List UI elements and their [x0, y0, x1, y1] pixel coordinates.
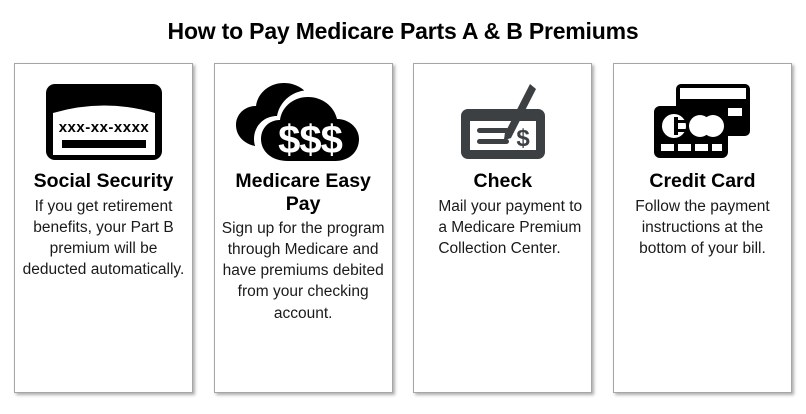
check-dollar-text: $ [516, 125, 530, 152]
card-heading-check: Check [420, 170, 585, 193]
page-title: How to Pay Medicare Parts A & B Premiums [0, 18, 806, 45]
card-social-security[interactable]: xxx-xx-xxxx Social Security If you get r… [14, 63, 193, 393]
ssn-placeholder-text: xxx-xx-xxxx [58, 119, 149, 136]
card-heading-medicare-easy-pay: Medicare Easy Pay [221, 170, 386, 215]
payment-method-cards: xxx-xx-xxxx Social Security If you get r… [14, 63, 792, 393]
card-heading-credit-card: Credit Card [620, 170, 785, 193]
card-body-medicare-easy-pay: Sign up for the program through Medicare… [221, 218, 386, 323]
credit-cards-icon [620, 76, 785, 168]
card-medicare-easy-pay[interactable]: $$$ Medicare Easy Pay Sign up for the pr… [214, 63, 393, 393]
card-body-check: Mail your payment to a Medicare Premium … [420, 196, 585, 259]
social-security-card-icon: xxx-xx-xxxx [21, 76, 186, 168]
card-body-social-security: If you get retirement benefits, your Par… [21, 196, 186, 280]
card-body-credit-card: Follow the payment instructions at the b… [620, 196, 785, 259]
cloud-dollars-icon: $$$ [221, 76, 386, 168]
dollars-text: $$$ [278, 118, 342, 162]
card-heading-social-security: Social Security [21, 170, 186, 193]
card-credit-card[interactable]: Credit Card Follow the payment instructi… [613, 63, 792, 393]
card-check[interactable]: $ Check Mail your payment to a Medicare … [413, 63, 592, 393]
check-with-pen-icon: $ [420, 76, 585, 168]
